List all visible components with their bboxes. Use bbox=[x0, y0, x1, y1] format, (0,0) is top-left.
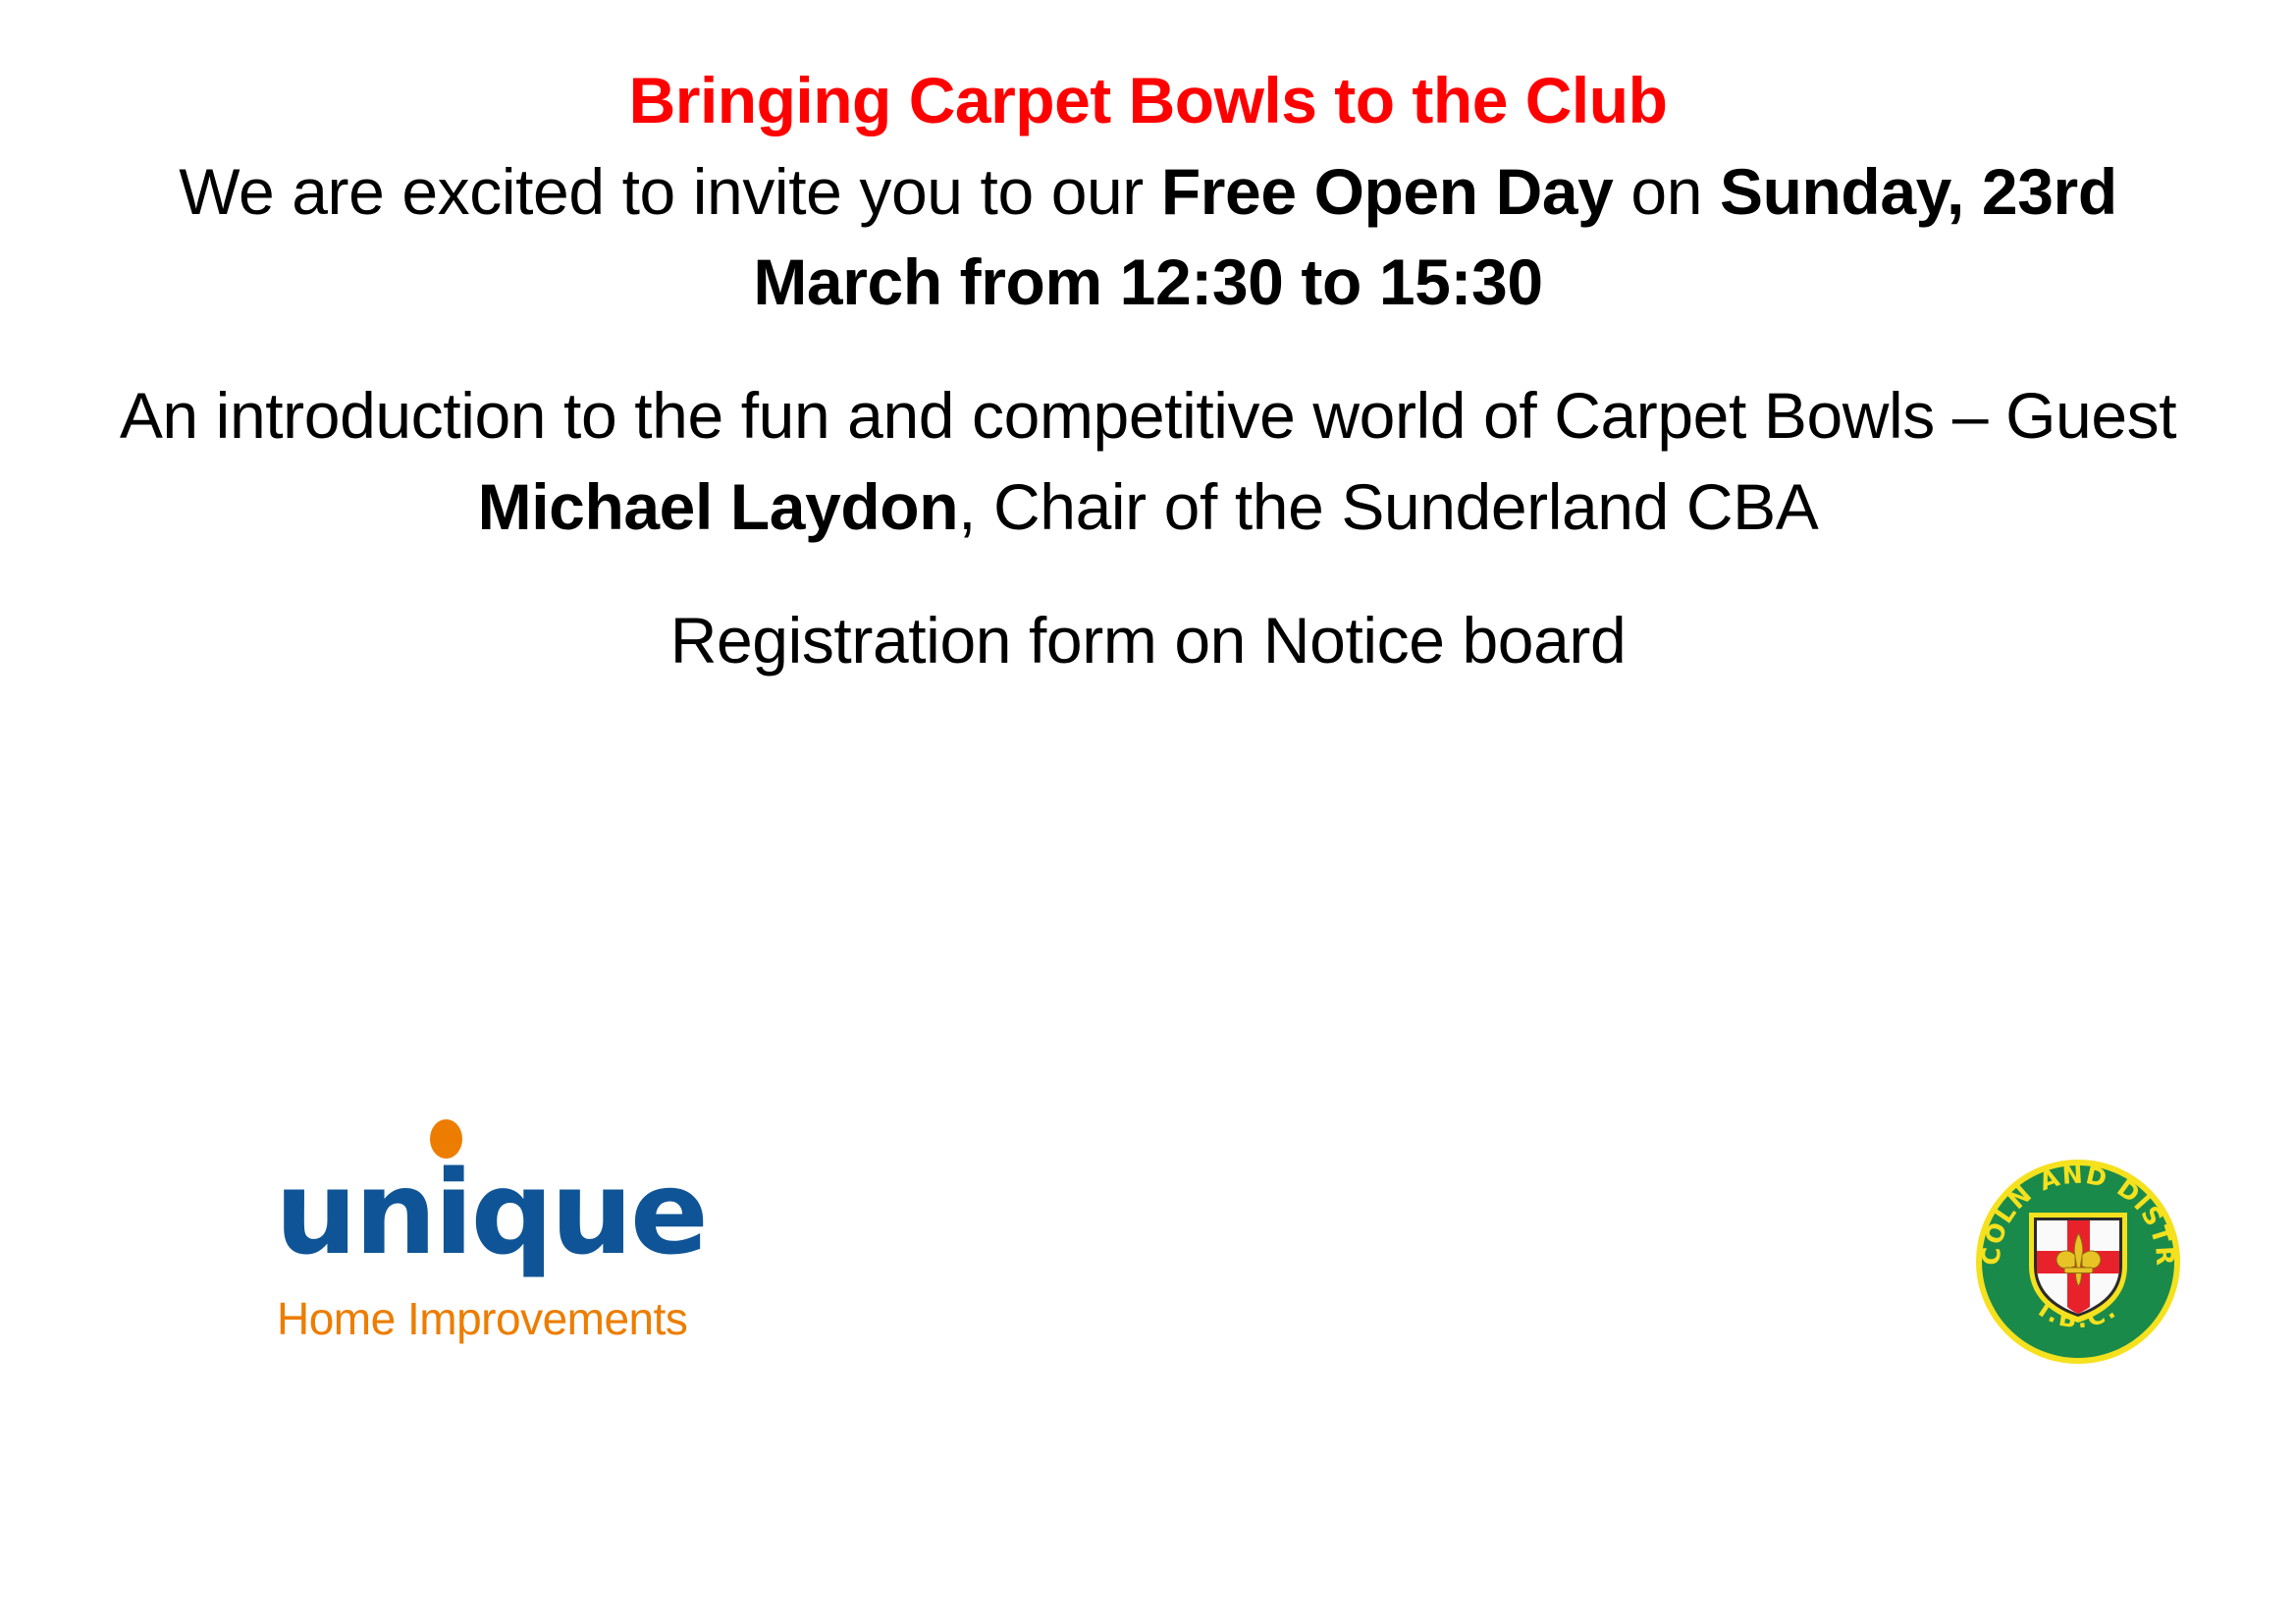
poster-text-block: Bringing Carpet Bowls to the Club We are… bbox=[88, 61, 2208, 685]
registration-text: Registration form on Notice board bbox=[670, 604, 1627, 677]
orange-dot-icon bbox=[430, 1119, 462, 1159]
poster-canvas: Bringing Carpet Bowls to the Club We are… bbox=[0, 0, 2296, 1624]
sponsor-wordmark: unique bbox=[271, 1155, 683, 1292]
page-title: Bringing Carpet Bowls to the Club bbox=[88, 61, 2208, 140]
sponsor-tagline: Home Improvements bbox=[271, 1296, 683, 1341]
paragraph-invite: We are excited to invite you to our Free… bbox=[88, 146, 2208, 328]
invite-run-1: Free Open Day bbox=[1161, 155, 1614, 228]
sponsor-logo-unique: unique Home Improvements bbox=[271, 1155, 683, 1380]
invite-run-2: on bbox=[1613, 155, 1720, 228]
club-badge-icon: LINCOLN AND DISTRICT I.B.C. bbox=[1974, 1158, 2182, 1366]
paragraph-description: An introduction to the fun and competiti… bbox=[88, 370, 2208, 552]
invite-run-0: We are excited to invite you to our bbox=[179, 155, 1161, 228]
guest-name: Michael Laydon bbox=[478, 470, 959, 543]
sponsor-wordmark-text: unique bbox=[275, 1145, 706, 1280]
description-run-2: , Chair of the Sunderland CBA bbox=[958, 470, 1818, 543]
description-run-0: An introduction to the fun and competiti… bbox=[120, 379, 2176, 452]
paragraph-registration: Registration form on Notice board bbox=[88, 595, 2208, 685]
club-badge-lincoln-ibc: LINCOLN AND DISTRICT I.B.C. bbox=[1974, 1158, 2182, 1366]
